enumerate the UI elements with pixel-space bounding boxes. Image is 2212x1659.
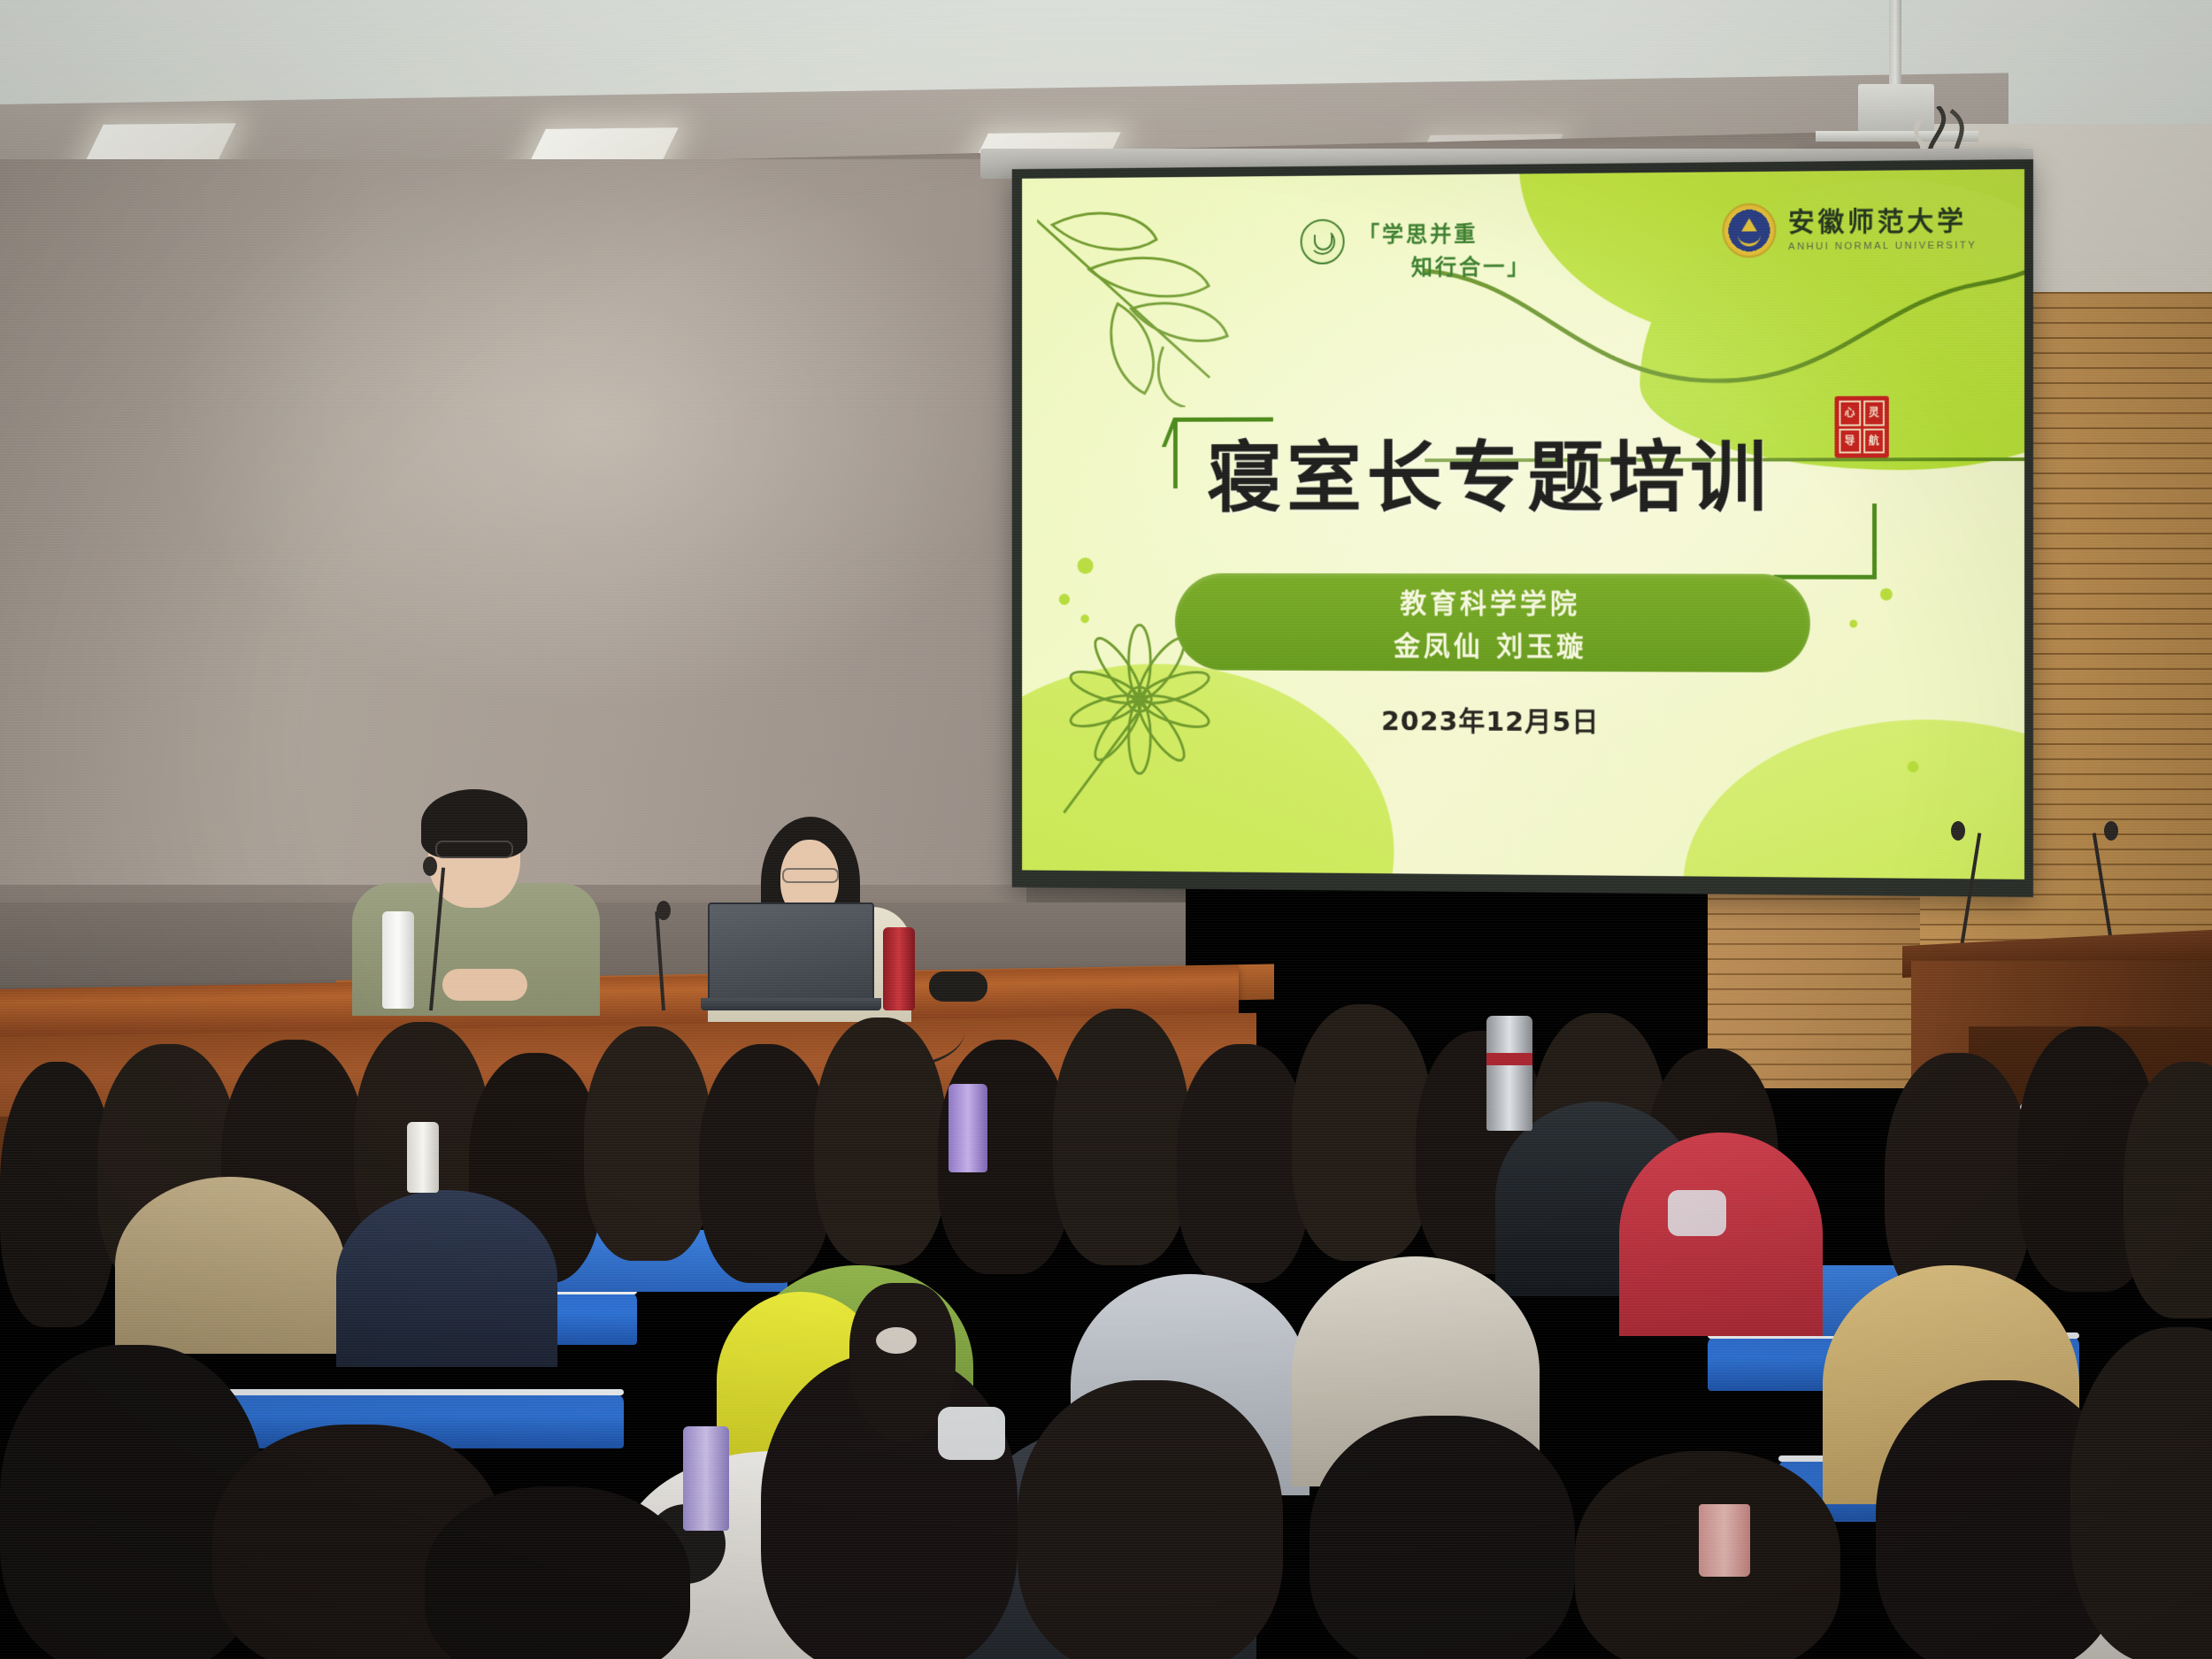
presenter-left bbox=[336, 779, 619, 1009]
college-seal-icon bbox=[1301, 219, 1345, 264]
seal-char: 导 bbox=[1839, 428, 1860, 453]
seal-char: 灵 bbox=[1863, 401, 1885, 426]
slide-title: 寝室长专题培训 bbox=[1173, 434, 1896, 520]
cup-pink bbox=[1699, 1504, 1750, 1577]
audience-desk-edge bbox=[226, 1389, 624, 1395]
college-seal-glyph bbox=[1314, 234, 1333, 250]
audience-head bbox=[699, 1044, 832, 1283]
audience-head bbox=[814, 1018, 947, 1265]
face-mask-icon bbox=[938, 1407, 1005, 1460]
university-name-cn: 安徽师范大学 bbox=[1788, 207, 1977, 239]
face-mask-icon bbox=[1668, 1190, 1726, 1236]
presenter-right-glasses bbox=[782, 868, 839, 883]
audience-head bbox=[1053, 1009, 1190, 1265]
water-bottle-white bbox=[382, 911, 414, 1009]
presenter-left-glasses bbox=[435, 841, 513, 858]
audience-jacket bbox=[115, 1177, 345, 1354]
university-logo-block: 安徽师范大学 ANHUI NORMAL UNIVERSITY bbox=[1722, 202, 1977, 258]
water-bottle-white-audience bbox=[407, 1122, 439, 1193]
organizer-name: 教育科学学院 bbox=[1400, 581, 1580, 621]
motto-line-2: 知行合一」 bbox=[1358, 250, 1531, 284]
lectern-microphone-head-left bbox=[1951, 821, 1965, 841]
projection-screen: 「学思并重 知行合一」 安徽师范大学 ANHUI NORMAL UNIVERSI… bbox=[1012, 159, 2033, 897]
thermos-red-band bbox=[1486, 1053, 1532, 1065]
lectern-microphone-head-right bbox=[2104, 821, 2118, 841]
slide-date: 2023年12月5日 bbox=[1175, 698, 1810, 741]
water-bottle-purple bbox=[949, 1084, 987, 1172]
water-bottle-lavender bbox=[683, 1426, 729, 1531]
university-emblem-icon bbox=[1722, 204, 1776, 258]
university-name-group: 安徽师范大学 ANHUI NORMAL UNIVERSITY bbox=[1788, 207, 1977, 252]
college-motto-block: 「学思并重 知行合一」 bbox=[1301, 218, 1532, 285]
audience-jacket bbox=[336, 1190, 557, 1367]
red-seal-stamp-icon: 心 灵 导 航 bbox=[1835, 396, 1889, 458]
audience-head-front bbox=[2070, 1327, 2212, 1659]
audience-head-front bbox=[1018, 1380, 1283, 1659]
motto-line-1: 「学思并重 bbox=[1358, 221, 1478, 248]
audience-head-front bbox=[1310, 1416, 1575, 1659]
microphone-head-right bbox=[657, 901, 671, 920]
slide-title-block: 寝室长专题培训 心 灵 导 航 bbox=[1173, 434, 1896, 520]
university-name-en: ANHUI NORMAL UNIVERSITY bbox=[1788, 240, 1977, 252]
seal-char: 航 bbox=[1863, 428, 1885, 453]
headphones-on-table bbox=[929, 972, 987, 1002]
motto-text: 「学思并重 知行合一」 bbox=[1358, 218, 1531, 284]
audience-head bbox=[1177, 1044, 1310, 1283]
audience-head bbox=[584, 1026, 712, 1261]
thermos-red-table bbox=[883, 927, 915, 1010]
lecture-hall-photo: 「学思并重 知行合一」 安徽师范大学 ANHUI NORMAL UNIVERSI… bbox=[0, 0, 2212, 1659]
projector-mount-pole bbox=[1889, 0, 1901, 93]
audience-head-front bbox=[425, 1486, 690, 1659]
seal-char: 心 bbox=[1839, 401, 1860, 426]
hair-scrunchie-icon bbox=[876, 1327, 917, 1354]
presenter-left-hands bbox=[442, 969, 527, 1001]
microphone-head-left bbox=[423, 856, 437, 876]
audience-head bbox=[1292, 1004, 1433, 1261]
thermos-silver bbox=[1486, 1016, 1532, 1131]
presenter-names: 金凤仙 刘玉璇 bbox=[1394, 624, 1586, 664]
presenter-pill: 教育科学学院 金凤仙 刘玉璇 bbox=[1175, 573, 1810, 672]
presenter-laptop-screen bbox=[708, 902, 874, 1000]
presentation-slide: 「学思并重 知行合一」 安徽师范大学 ANHUI NORMAL UNIVERSI… bbox=[1022, 169, 2024, 879]
